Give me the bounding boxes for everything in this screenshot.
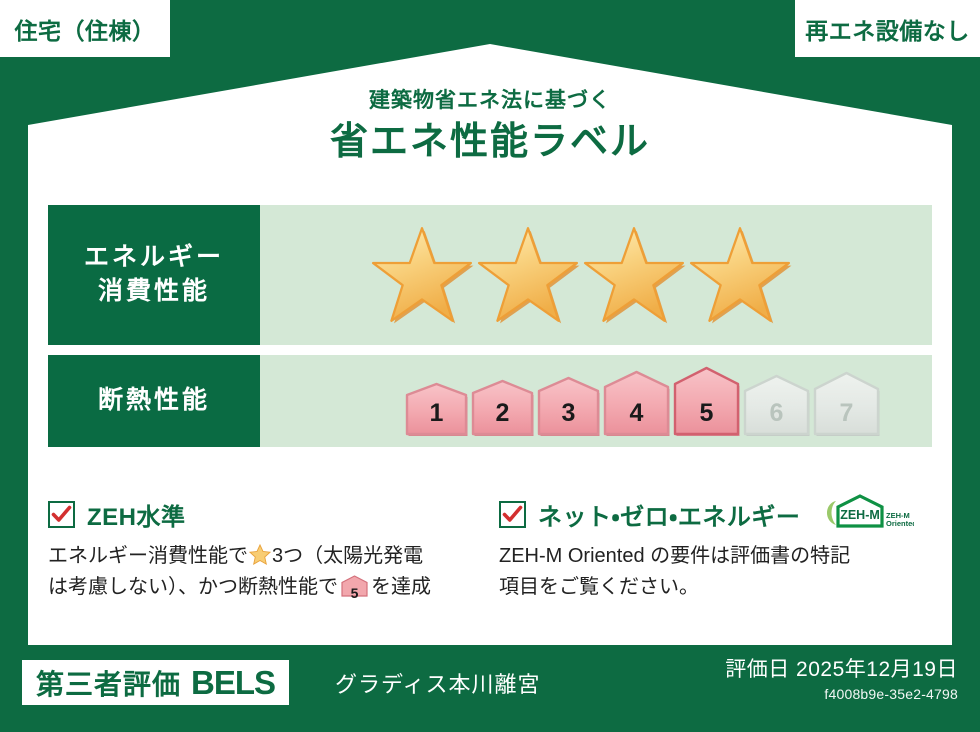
evaluation-info: 評価日 2025年12月19日 f4008b9e-35e2-4798 xyxy=(725,657,958,702)
insulation-performance-label-text: 断熱性能 xyxy=(98,384,210,418)
zeh-standard-header: ZEH水準 xyxy=(48,497,481,531)
title-subtitle: 建築物省エネ法に基づく xyxy=(0,88,980,113)
zeh-section: ZEH水準 エネルギー消費性能で3つ（太陽光発電は考慮しない）、かつ断熱性能で5… xyxy=(48,497,932,607)
energy-performance-row: エネルギー 消費性能 xyxy=(48,205,932,345)
title-main: 省エネ性能ラベル xyxy=(0,118,980,167)
inline-insulation-badge-number: 5 xyxy=(341,583,368,605)
net-zero-energy-header: ネット・ゼロ・エネルギー ZEH-M ZEH-M Oriented xyxy=(499,497,932,531)
zeh-standard-body-part2: 3つ（太陽光発電 xyxy=(272,545,423,567)
renewable-energy-tag-label: 再エネ設備なし xyxy=(805,12,970,46)
star-filled-icon xyxy=(476,225,580,325)
energy-performance-value xyxy=(260,205,932,345)
renewable-energy-tag: 再エネ設備なし xyxy=(795,0,980,57)
bels-logo-text: BELS xyxy=(191,664,275,702)
insulation-level-badge-5: 5 xyxy=(673,366,740,437)
insulation-level-badge-7: 7 xyxy=(813,371,880,437)
inline-insulation-badge: 5 xyxy=(341,575,368,607)
zeh-standard-checkbox xyxy=(48,501,75,528)
insulation-level-badge-4: 4 xyxy=(603,370,670,437)
evaluation-id: f4008b9e-35e2-4798 xyxy=(725,686,958,702)
insulation-level-number: 6 xyxy=(743,399,810,428)
net-zero-energy-checkbox xyxy=(499,501,526,528)
check-icon xyxy=(51,504,72,525)
star-filled-icon xyxy=(370,225,474,325)
insulation-performance-row: 断熱性能 1234567 xyxy=(48,355,932,447)
bels-badge: 第三者評価 BELS xyxy=(22,660,289,705)
star-filled-icon xyxy=(582,225,686,325)
net-zero-energy-column: ネット・ゼロ・エネルギー ZEH-M ZEH-M Oriented ZEH-M … xyxy=(499,497,932,607)
insulation-level-number: 4 xyxy=(603,399,670,428)
energy-performance-label-line2: 消費性能 xyxy=(98,275,210,309)
svg-text:ZEH-M: ZEH-M xyxy=(841,508,881,522)
insulation-level-scale: 1234567 xyxy=(405,366,880,437)
insulation-level-number: 3 xyxy=(537,399,600,428)
building-type-tag: 住宅（住棟） xyxy=(0,0,170,57)
insulation-level-badge-1: 1 xyxy=(405,382,468,437)
energy-performance-label: 住宅（住棟） 再エネ設備なし 建築物省エネ法に基づく 省エネ性能ラベル エネルギ… xyxy=(0,0,980,732)
building-type-tag-label: 住宅（住棟） xyxy=(15,12,156,46)
zeh-m-house-leaf-icon: ZEH-M ZEH-M Oriented xyxy=(818,492,914,532)
zeh-standard-body-part1: エネルギー消費性能で xyxy=(48,545,248,567)
inline-star-icon xyxy=(249,544,271,565)
label-title-block: 建築物省エネ法に基づく 省エネ性能ラベル xyxy=(0,88,980,168)
zeh-standard-body: エネルギー消費性能で3つ（太陽光発電は考慮しない）、かつ断熱性能で5を達成 xyxy=(48,541,481,607)
insulation-level-number: 7 xyxy=(813,399,880,428)
zeh-m-oriented-logo: ZEH-M ZEH-M Oriented xyxy=(818,492,914,537)
svg-text:Oriented: Oriented xyxy=(886,519,914,528)
building-name: グラディス本川離宮 xyxy=(335,667,540,699)
insulation-level-number: 1 xyxy=(405,399,468,428)
insulation-level-badge-3: 3 xyxy=(537,376,600,437)
performance-panel: エネルギー 消費性能 断熱性能 1234567 xyxy=(48,205,932,447)
insulation-level-number: 2 xyxy=(471,399,534,428)
evaluation-date: 評価日 2025年12月19日 xyxy=(725,657,958,682)
insulation-performance-label: 断熱性能 xyxy=(48,355,260,447)
label-footer: 第三者評価 BELS グラディス本川離宮 評価日 2025年12月19日 f40… xyxy=(0,645,980,732)
net-zero-energy-title: ネット・ゼロ・エネルギー xyxy=(538,497,800,532)
star-rating xyxy=(370,225,792,325)
zeh-standard-title: ZEH水準 xyxy=(87,497,186,532)
net-zero-energy-body: ZEH-M Oriented の要件は評価書の特記 項目をご覧ください。 xyxy=(499,541,932,603)
net-zero-energy-body-line1: ZEH-M Oriented の要件は評価書の特記 xyxy=(499,541,932,572)
check-icon xyxy=(502,504,523,525)
insulation-level-number: 5 xyxy=(673,399,740,428)
insulation-level-badge-2: 2 xyxy=(471,379,534,437)
energy-performance-label: エネルギー 消費性能 xyxy=(48,205,260,345)
net-zero-energy-body-line2: 項目をご覧ください。 xyxy=(499,572,932,603)
insulation-performance-value: 1234567 xyxy=(260,355,932,447)
zeh-standard-body-part3: は考慮しない）、かつ断熱性能で xyxy=(48,576,338,598)
insulation-level-badge-6: 6 xyxy=(743,374,810,437)
zeh-standard-column: ZEH水準 エネルギー消費性能で3つ（太陽光発電は考慮しない）、かつ断熱性能で5… xyxy=(48,497,481,607)
star-filled-icon xyxy=(688,225,792,325)
zeh-standard-body-part4: を達成 xyxy=(371,576,431,598)
energy-performance-label-line1: エネルギー xyxy=(84,241,224,275)
bels-third-party-label: 第三者評価 xyxy=(36,663,181,703)
